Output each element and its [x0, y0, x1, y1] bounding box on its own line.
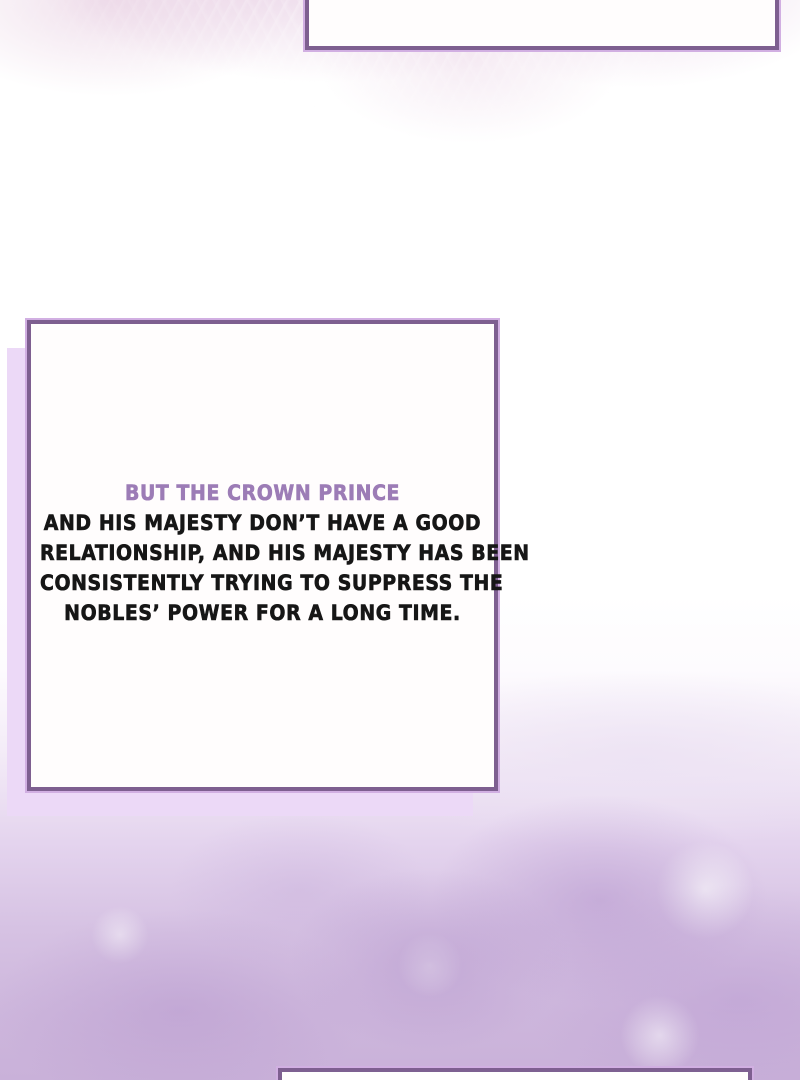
narration-line: AND HIS MAJESTY DON’T HAVE A GOOD: [40, 508, 485, 538]
narration-frame-top-partial: [305, 0, 779, 50]
narration-line: CONSISTENTLY TRYING TO SUPPRESS THE: [40, 568, 485, 598]
narration-frame-bottom-partial: [278, 1068, 752, 1080]
narration-line: NOBLES’ POWER FOR A LONG TIME.: [40, 598, 485, 628]
narration-line: RELATIONSHIP, AND HIS MAJESTY HAS BEEN: [40, 538, 485, 568]
narration-text-block: BUT THE CROWN PRINCEAND HIS MAJESTY DON’…: [40, 478, 485, 628]
narration-line: BUT THE CROWN PRINCE: [40, 478, 485, 508]
comic-panel: BUT THE CROWN PRINCEAND HIS MAJESTY DON’…: [0, 0, 800, 1080]
